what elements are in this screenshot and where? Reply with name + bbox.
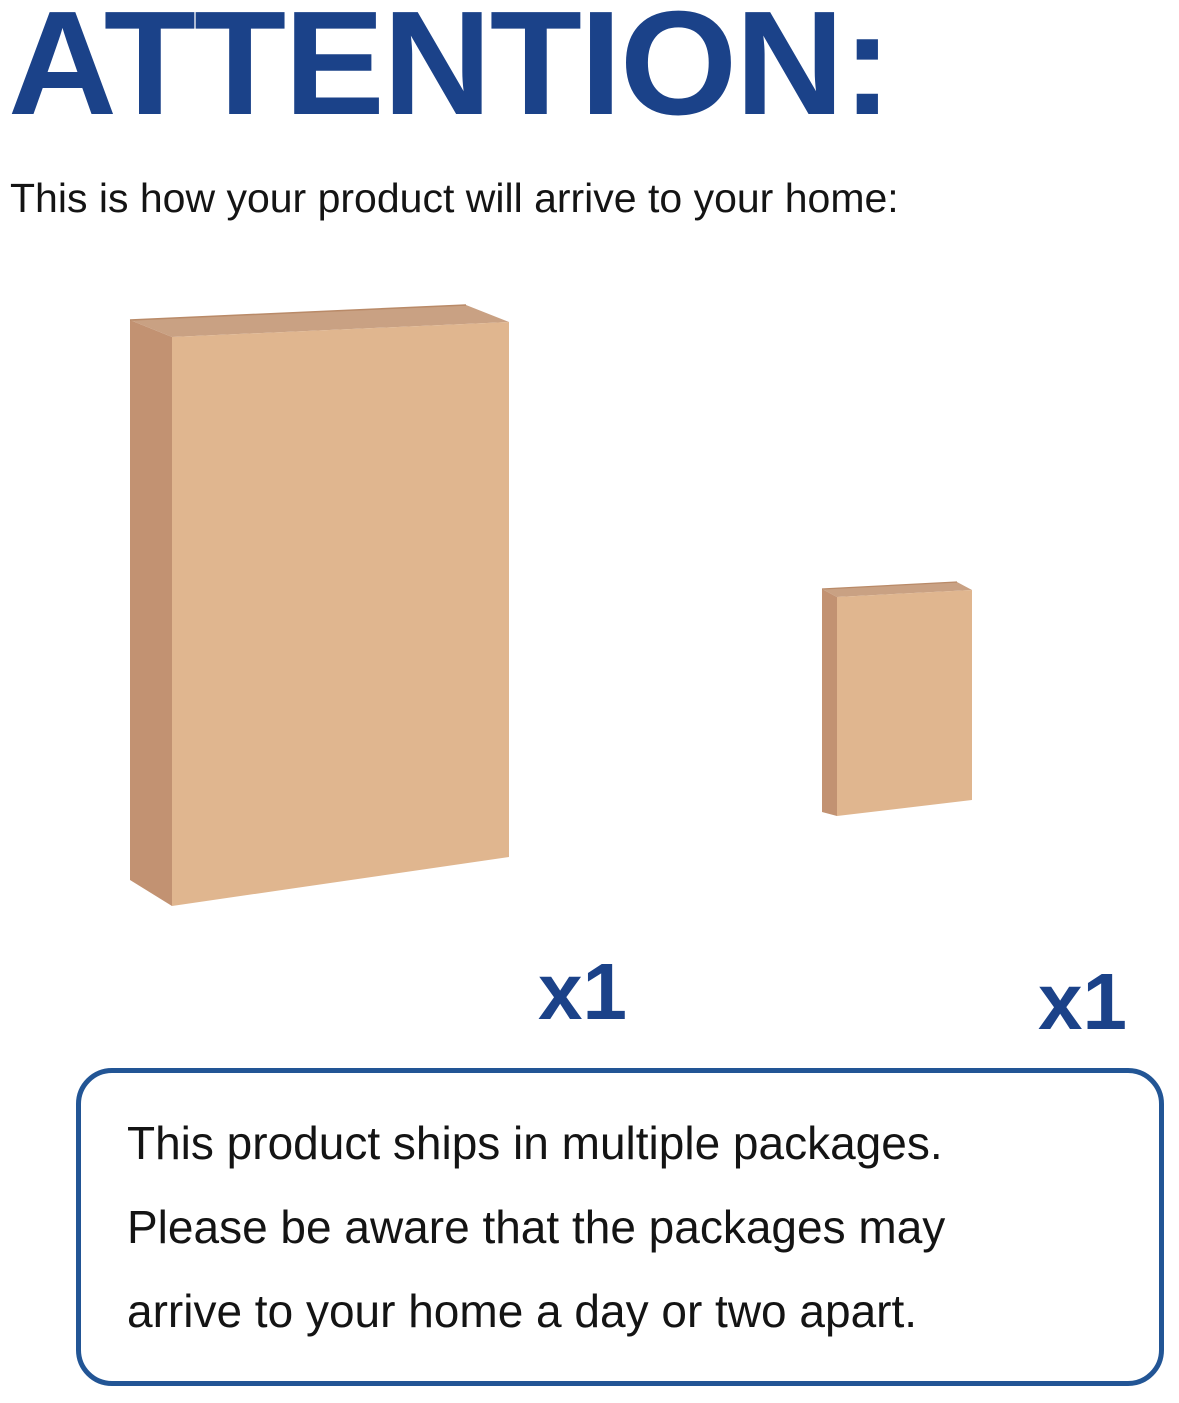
box-front-face <box>837 590 972 816</box>
page-title: ATTENTION: <box>8 0 1179 138</box>
box-side-face <box>130 320 172 906</box>
page-subtitle: This is how your product will arrive to … <box>10 178 899 219</box>
box-side-face <box>822 589 837 816</box>
package-boxes-graphic <box>0 280 1179 1000</box>
shipping-notice-box: This product ships in multiple packages.… <box>76 1068 1164 1386</box>
cardboard-box-icon-wall-shelving <box>130 305 509 906</box>
quantity-label-wall-shelving: x1 <box>538 952 627 1032</box>
quantity-label-hook: x1 <box>1038 962 1127 1042</box>
cardboard-box-icon-hook <box>822 582 972 816</box>
packages-illustration: x1 x1 Wall Shelving Hook <box>0 280 1179 1000</box>
shipping-notice-line-3: arrive to your home a day or two apart. <box>127 1269 1113 1353</box>
shipping-notice-line-1: This product ships in multiple packages. <box>127 1101 1113 1185</box>
box-front-face <box>172 322 509 906</box>
shipping-notice-line-2: Please be aware that the packages may <box>127 1185 1113 1269</box>
